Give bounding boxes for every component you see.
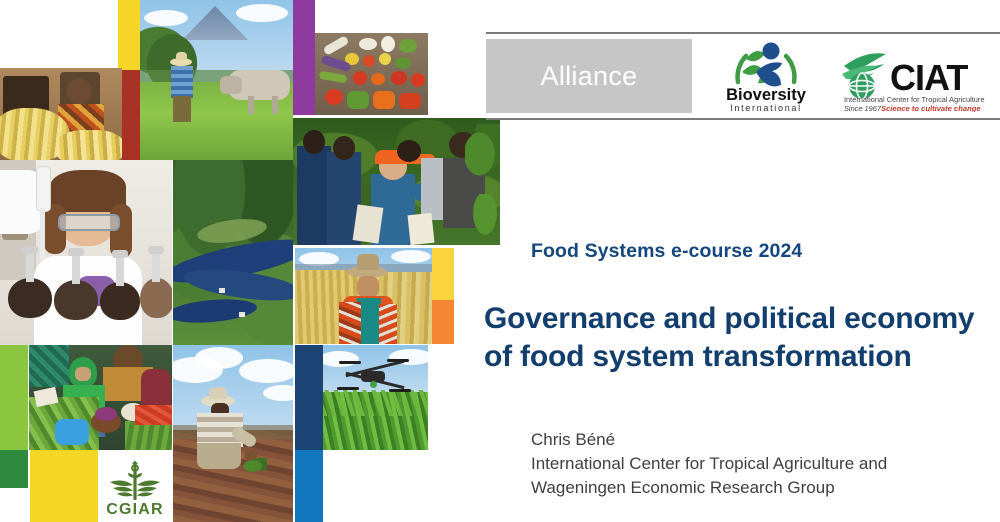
cgiar-emblem-icon (108, 458, 162, 504)
photo-aerial-river-forest (173, 160, 293, 345)
course-subtitle: Food Systems e-course 2024 (531, 240, 802, 263)
photo-farmer-planting-soil (173, 345, 293, 522)
title-panel: Alliance Bioversity International (500, 0, 1000, 522)
photo-field-training-group (293, 118, 500, 245)
photo-lab-researcher (0, 160, 172, 345)
photo-farmer-with-cattle (140, 0, 293, 160)
purple-bar-top (293, 0, 315, 115)
logo-bar: Alliance Bioversity International (486, 32, 1000, 120)
cgiar-logo (108, 458, 162, 504)
photo-market-vendor (29, 345, 172, 450)
navy-bar-bottom-right (295, 345, 323, 450)
alliance-logo: Alliance (486, 39, 692, 113)
photo-collage: CGIAR (0, 0, 500, 522)
svg-text:Since 1967: Since 1967 (844, 104, 882, 112)
bioversity-emblem-icon: Bioversity International (708, 36, 824, 116)
author-byline: Chris Béné International Center for Trop… (531, 428, 1000, 500)
svg-text:Science to cultivate change: Science to cultivate change (881, 104, 981, 112)
dark-green-bar-bottom-left (0, 450, 28, 488)
orange-bar-right (432, 300, 454, 344)
bioversity-logo: Bioversity International (708, 36, 824, 116)
ciat-logo: CIAT International Center for Tropical A… (838, 42, 996, 112)
svg-text:International Center for Tropi: International Center for Tropical Agricu… (844, 95, 985, 104)
rule-bottom (486, 118, 1000, 120)
svg-text:CIAT: CIAT (890, 57, 968, 98)
blue-bar-bottom-right (295, 450, 323, 522)
yellow-bar-top-left (118, 0, 140, 70)
presentation-title-slide: CGIAR Alliance Bioversity (0, 0, 1000, 522)
affiliation-line-1: International Center for Tropical Agricu… (531, 452, 1000, 476)
light-green-bar-bottom-left (0, 345, 28, 450)
svg-text:International: International (730, 103, 802, 113)
rule-top (486, 32, 1000, 34)
ciat-emblem-icon: CIAT International Center for Tropical A… (838, 42, 996, 112)
alliance-label: Alliance (541, 61, 638, 92)
cgiar-wordmark: CGIAR (103, 501, 167, 519)
photo-agri-drone-rice (323, 345, 428, 450)
affiliation-line-2: Wageningen Economic Research Group (531, 476, 1000, 500)
author-name: Chris Béné (531, 428, 1000, 452)
page-title: Governance and political economy of food… (484, 300, 1000, 376)
yellow-bar-bottom-left (30, 450, 98, 522)
photo-quinoa-farmer-woman (295, 248, 432, 344)
photo-vegetable-assortment (315, 33, 428, 115)
svg-text:Bioversity: Bioversity (726, 86, 807, 104)
photo-bananas-and-woman (0, 68, 122, 160)
yellow-bar-right (432, 248, 454, 300)
